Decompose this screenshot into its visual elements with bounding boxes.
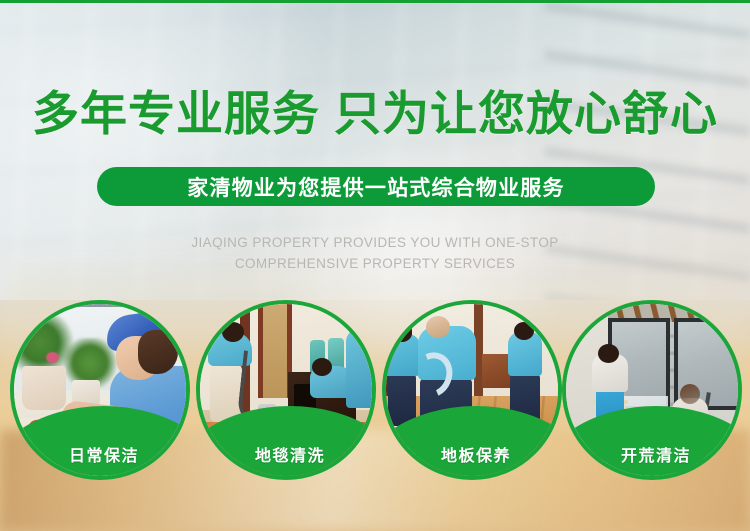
service-label-post-construction-cleaning: 开荒清洁 [566,442,742,466]
headline: 多年专业服务 只为让您放心舒心 [0,88,750,140]
service-label-carpet-washing: 地毯清洗 [200,442,376,466]
tagline-pill: 家清物业为您提供一站式综合物业服务 [97,167,655,206]
service-label-daily-cleaning: 日常保洁 [14,442,190,466]
service-label-floor-maintenance: 地板保养 [386,442,562,466]
service-circle-carpet-washing[interactable]: 地毯清洗 [196,300,376,480]
tagline-pill-text: 家清物业为您提供一站式综合物业服务 [187,172,564,202]
service-circle-daily-cleaning[interactable]: 日常保洁 [10,300,190,480]
service-circle-row: 日常保洁 地毯清洗 [0,300,750,482]
top-accent-rule [0,0,750,3]
service-circle-post-construction-cleaning[interactable]: 开荒清洁 [562,300,742,480]
subtitle-english-line-2: COMPREHENSIVE PROPERTY SERVICES [0,253,750,274]
service-circle-floor-maintenance[interactable]: 地板保养 [382,300,562,480]
subtitle-english: JIAQING PROPERTY PROVIDES YOU WITH ONE-S… [0,232,750,274]
subtitle-english-line-1: JIAQING PROPERTY PROVIDES YOU WITH ONE-S… [0,232,750,253]
promo-banner: 多年专业服务 只为让您放心舒心 家清物业为您提供一站式综合物业服务 JIAQIN… [0,0,750,531]
